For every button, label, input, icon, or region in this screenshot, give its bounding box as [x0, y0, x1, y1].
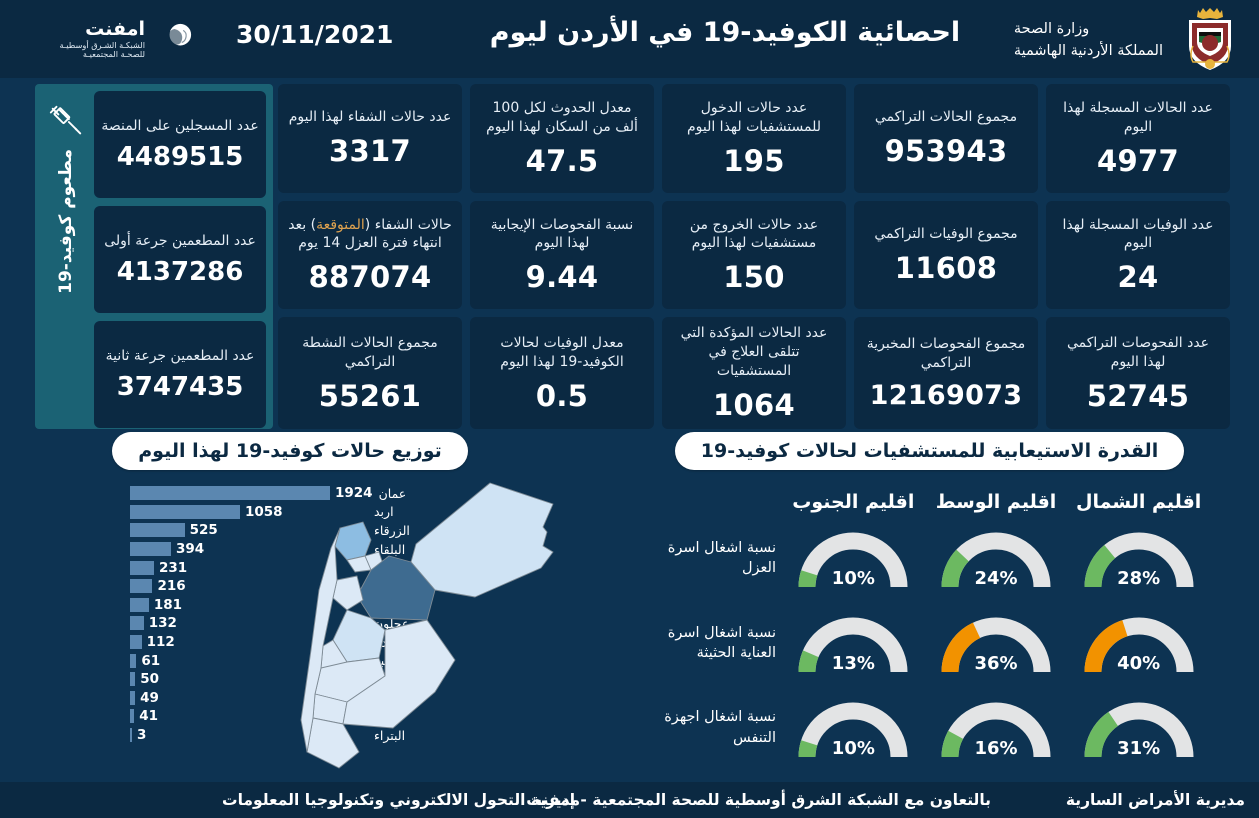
gauge-0-1[interactable]: 24% — [934, 523, 1058, 593]
vaccination-card[interactable]: عدد المطعمين جرعة أولى 4137286 — [94, 206, 266, 313]
stat-card-cumulative-cases[interactable]: مجموع الحالات التراكمي 953943 — [854, 84, 1038, 193]
bar-value-label: 216 — [157, 578, 185, 594]
stat-card-active-cases[interactable]: مجموع الحالات النشطة التراكمي 55261 — [278, 317, 462, 429]
card-value: 3317 — [329, 134, 411, 168]
gauge-percent-label: 40% — [1077, 653, 1201, 674]
report-date: 30/11/2021 — [236, 20, 393, 49]
card-label: عدد المطعمين جرعة أولى — [104, 232, 256, 251]
card-label: مجموع الوفيات التراكمي — [874, 225, 1017, 244]
bar-value-label: 394 — [176, 541, 204, 557]
bar-fill[interactable] — [130, 561, 154, 575]
stat-card-incidence-rate[interactable]: معدل الحدوث لكل 100 ألف من السكان لهذا ا… — [470, 84, 654, 193]
card-value: 1064 — [713, 388, 795, 422]
bar-fill[interactable] — [130, 635, 142, 649]
bar-fill[interactable] — [130, 523, 185, 537]
bar-fill[interactable] — [130, 616, 144, 630]
card-label: عدد حالات الشفاء لهذا اليوم — [289, 108, 452, 127]
main-stat-cards: عدد الحالات المسجلة لهذا اليوم 4977 مجمو… — [278, 84, 1230, 429]
statistics-grid: مطعوم كوفيد-19 عدد المسجلين على المنصة 4… — [0, 84, 1259, 429]
stat-card-recoveries-today[interactable]: عدد حالات الشفاء لهذا اليوم 3317 — [278, 84, 462, 193]
bar-fill[interactable] — [130, 579, 152, 593]
gauge-row-label-2: نسبة اشغال اجهزة التنفس — [656, 707, 782, 748]
bar-value-label: 112 — [147, 634, 175, 650]
bar-value-label: 1058 — [245, 504, 283, 520]
page-footer: مديرية الأمراض السارية بالتعاون مع الشبك… — [0, 782, 1259, 818]
vaccination-card[interactable]: عدد المطعمين جرعة ثانية 3747435 — [94, 321, 266, 428]
card-value: 4489515 — [117, 142, 244, 172]
card-label: مجموع الحالات التراكمي — [875, 108, 1017, 127]
gauge-percent-label: 36% — [934, 653, 1058, 674]
gauge-percent-label: 13% — [791, 653, 915, 674]
card-label: عدد الفحوصات التراكمي لهذا اليوم — [1055, 334, 1221, 372]
gauge-2-2[interactable]: 10% — [791, 693, 915, 763]
gauge-0-0[interactable]: 28% — [1077, 523, 1201, 593]
gauge-cell: 13% — [782, 608, 925, 678]
card-label: عدد حالات الدخول للمستشفيات لهذا اليوم — [671, 99, 837, 137]
syringe-icon — [46, 103, 86, 141]
bar-value-label: 61 — [141, 653, 160, 669]
card-value: 4977 — [1097, 144, 1179, 178]
gauge-percent-label: 16% — [934, 738, 1058, 759]
page-header: امفنت الشبكـة الشـرق أوسطيـة للصحـة المج… — [0, 0, 1259, 78]
card-value: 4137286 — [117, 257, 244, 287]
moh-line-2: المملكة الأردنية الهاشمية — [1014, 40, 1163, 62]
bar-fill[interactable] — [130, 542, 171, 556]
bar-value-label: 181 — [154, 597, 182, 613]
stat-card-confirmed-in-treatment[interactable]: عدد الحالات المؤكدة التي تتلقى العلاج في… — [662, 317, 846, 429]
region-header-2: اقليم الجنوب — [782, 491, 925, 513]
region-header-1: اقليم الوسط — [925, 491, 1068, 513]
bar-value-label: 41 — [139, 708, 158, 724]
bar-fill[interactable] — [130, 709, 134, 723]
card-label: عدد المطعمين جرعة ثانية — [106, 347, 255, 366]
gauge-cell: 36% — [925, 608, 1068, 678]
card-label: عدد المسجلين على المنصة — [101, 117, 258, 136]
gauge-percent-label: 10% — [791, 738, 915, 759]
card-label: حالات الشفاء (المتوقعة) بعد انتهاء فترة … — [287, 216, 453, 254]
stat-card-expected-recoveries[interactable]: حالات الشفاء (المتوقعة) بعد انتهاء فترة … — [278, 201, 462, 310]
gauge-1-2[interactable]: 13% — [791, 608, 915, 678]
gauge-cell: 31% — [1067, 693, 1210, 763]
card-label: معدل الوفيات لحالات الكوفيد-19 لهذا اليو… — [479, 334, 645, 372]
card-label: مجموع الفحوصات المخبرية التراكمي — [863, 335, 1029, 373]
bar-fill[interactable] — [130, 654, 136, 668]
gauge-cell: 40% — [1067, 608, 1210, 678]
footer-item-collaboration: بالتعاون مع الشبكة الشرق أوسطية للصحة ال… — [526, 791, 991, 809]
gauge-row-label-1: نسبة اشغال اسرة العناية الحثيثة — [656, 623, 782, 664]
gauge-row-label-0: نسبة اشغال اسرة العزل — [656, 538, 782, 579]
bar-value-label: 231 — [159, 560, 187, 576]
gauge-cell: 16% — [925, 693, 1068, 763]
card-value: 953943 — [885, 134, 1008, 168]
card-label: مجموع الحالات النشطة التراكمي — [287, 334, 453, 372]
vaccination-cards: عدد المسجلين على المنصة 4489515 عدد المط… — [94, 91, 266, 428]
bar-fill[interactable] — [130, 505, 240, 519]
gauge-2-0[interactable]: 31% — [1077, 693, 1201, 763]
vaccination-card[interactable]: عدد المسجلين على المنصة 4489515 — [94, 91, 266, 198]
stat-card-cumulative-lab-tests[interactable]: مجموع الفحوصات المخبرية التراكمي 1216907… — [854, 317, 1038, 429]
gauge-percent-label: 28% — [1077, 568, 1201, 589]
ministry-of-health-label: وزارة الصحة المملكة الأردنية الهاشمية — [1014, 18, 1163, 63]
globe-network-icon — [153, 16, 199, 62]
moh-line-1: وزارة الصحة — [1014, 18, 1163, 40]
page-title: احصائية الكوفيد-19 في الأردن ليوم — [470, 17, 980, 48]
gauge-1-0[interactable]: 40% — [1077, 608, 1201, 678]
bar-fill[interactable] — [130, 672, 135, 686]
bar-value-label: 132 — [149, 615, 177, 631]
card-label: عدد حالات الخروج من مستشفيات لهذا اليوم — [671, 216, 837, 254]
gauge-0-2[interactable]: 10% — [791, 523, 915, 593]
gauge-cell: 10% — [782, 693, 925, 763]
vaccination-side-label: مطعوم كوفيد-19 — [56, 149, 76, 294]
capacity-gauge-grid: اقليم الشمالاقليم الوسطاقليم الجنوب28%24… — [656, 488, 1246, 770]
card-value: 12169073 — [870, 380, 1023, 411]
emphnet-name: امفنت — [85, 19, 145, 41]
card-value: 887074 — [309, 260, 432, 294]
jordan-map-choropleth[interactable] — [285, 480, 560, 770]
emphnet-subtitle-2: للصحـة المجتمعيـة — [83, 50, 145, 59]
card-value: 47.5 — [526, 144, 599, 178]
card-label: نسبة الفحوصات الإيجابية لهذا اليوم — [479, 216, 645, 254]
bar-value-label: 50 — [140, 671, 159, 687]
bar-value-label: 525 — [190, 522, 218, 538]
gauge-percent-label: 24% — [934, 568, 1058, 589]
stat-card-deaths-today[interactable]: عدد الوفيات المسجلة لهذا اليوم 24 — [1046, 201, 1230, 310]
capacity-title: القدرة الاستيعابية للمستشفيات لحالات كوف… — [675, 432, 1184, 470]
gauge-cell: 24% — [925, 523, 1068, 593]
hospital-capacity-panel: القدرة الاستيعابية للمستشفيات لحالات كوف… — [640, 432, 1259, 780]
card-value: 3747435 — [117, 372, 244, 402]
stat-card-tests-today[interactable]: عدد الفحوصات التراكمي لهذا اليوم 52745 — [1046, 317, 1230, 429]
stat-card-positivity-rate[interactable]: نسبة الفحوصات الإيجابية لهذا اليوم 9.44 — [470, 201, 654, 310]
card-value: 11608 — [895, 251, 997, 285]
vaccination-panel: مطعوم كوفيد-19 عدد المسجلين على المنصة 4… — [35, 84, 273, 429]
bar-fill[interactable] — [130, 598, 149, 612]
emphnet-logo: امفنت الشبكـة الشـرق أوسطيـة للصحـة المج… — [8, 6, 213, 72]
stat-card-case-fatality-rate[interactable]: معدل الوفيات لحالات الكوفيد-19 لهذا اليو… — [470, 317, 654, 429]
gauge-percent-label: 10% — [791, 568, 915, 589]
gauge-cell: 10% — [782, 523, 925, 593]
card-value: 150 — [723, 260, 784, 294]
gauge-2-1[interactable]: 16% — [934, 693, 1058, 763]
stat-card-cumulative-deaths[interactable]: مجموع الوفيات التراكمي 11608 — [854, 201, 1038, 310]
card-value: 52745 — [1087, 379, 1189, 413]
label-highlight: المتوقعة — [316, 217, 365, 233]
bar-value-label: 49 — [140, 690, 159, 706]
card-value: 24 — [1118, 260, 1159, 294]
bar-fill[interactable] — [130, 728, 132, 742]
gauge-1-1[interactable]: 36% — [934, 608, 1058, 678]
stat-card-hospital-discharges[interactable]: عدد حالات الخروج من مستشفيات لهذا اليوم … — [662, 201, 846, 310]
gauge-cell: 28% — [1067, 523, 1210, 593]
card-label: معدل الحدوث لكل 100 ألف من السكان لهذا ا… — [479, 99, 645, 137]
dashboard-page: امفنت الشبكـة الشـرق أوسطيـة للصحـة المج… — [0, 0, 1259, 818]
footer-item-digital-transformation: مديرية التحول الالكتروني وتكنولوجيا المع… — [222, 791, 580, 809]
label-part-1: حالات الشفاء ( — [365, 217, 452, 233]
distribution-panel: توزيع حالات كوفيد-19 لهذا اليوم عمان1924… — [0, 432, 620, 780]
region-header-0: اقليم الشمال — [1067, 491, 1210, 513]
card-label: عدد الحالات المسجلة لهذا اليوم — [1055, 99, 1221, 137]
bar-value-label: 3 — [137, 727, 146, 743]
card-value: 55261 — [319, 379, 421, 413]
card-label: عدد الحالات المؤكدة التي تتلقى العلاج في… — [671, 324, 837, 381]
stat-card-hospital-admissions[interactable]: عدد حالات الدخول للمستشفيات لهذا اليوم 1… — [662, 84, 846, 193]
gauge-percent-label: 31% — [1077, 738, 1201, 759]
card-value: 195 — [723, 144, 784, 178]
card-label: عدد الوفيات المسجلة لهذا اليوم — [1055, 216, 1221, 254]
stat-card-cases-today[interactable]: عدد الحالات المسجلة لهذا اليوم 4977 — [1046, 84, 1230, 193]
vaccination-side-strip: مطعوم كوفيد-19 — [38, 87, 94, 426]
jordan-coat-of-arms-icon — [1173, 2, 1247, 76]
card-value: 0.5 — [536, 379, 588, 413]
distribution-title: توزيع حالات كوفيد-19 لهذا اليوم — [112, 432, 468, 470]
card-value: 9.44 — [526, 260, 599, 294]
footer-item-epidemiology: مديرية الأمراض السارية — [1066, 791, 1245, 809]
bar-fill[interactable] — [130, 691, 135, 705]
